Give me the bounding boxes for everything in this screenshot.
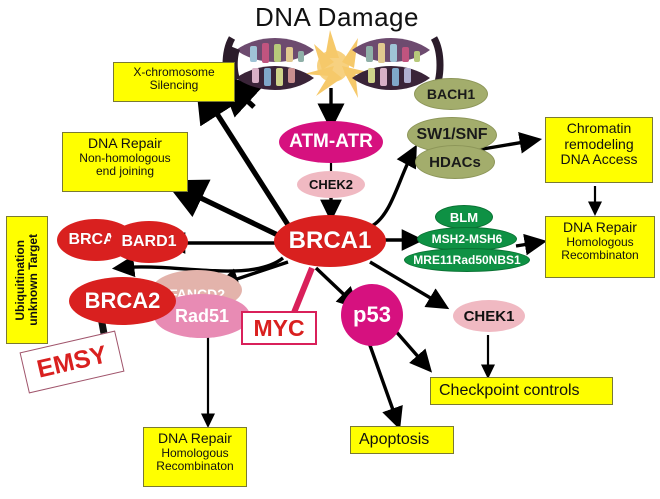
node-brca1-center[interactable]: BRCA1 <box>274 215 386 267</box>
chek2-label: CHEK2 <box>309 177 353 192</box>
chromatin-line3: DNA Access <box>551 152 647 168</box>
msh2-msh6-label: MSH2-MSH6 <box>432 232 503 246</box>
outcome-box-chromatin-remodeling: Chromatin remodeling DNA Access <box>545 117 653 183</box>
chromatin-line1: Chromatin <box>551 121 647 137</box>
node-hdacs[interactable]: HDACs <box>415 145 495 179</box>
node-bard1[interactable]: BARD1 <box>110 221 188 263</box>
edge-mre11-to-hr <box>516 242 541 246</box>
hr-right-line2: Homologous <box>551 236 649 249</box>
nhej-line3: end joining <box>68 165 182 178</box>
brca2-label: BRCA2 <box>85 288 161 314</box>
atm-atr-label: ATM-ATR <box>289 131 373 153</box>
hdacs-label: HDACs <box>429 154 481 171</box>
diagram-title: DNA Damage <box>255 2 419 33</box>
outcome-box-hr-right: DNA Repair Homologous Recombinaton <box>545 216 655 278</box>
blm-label: BLM <box>450 210 478 225</box>
checkpoint-label: Checkpoint controls <box>436 382 580 400</box>
node-myc[interactable]: MYC <box>241 311 317 345</box>
ubiquitination-line2: unknown Target <box>27 234 40 326</box>
apoptosis-label: Apoptosis <box>356 431 429 449</box>
outcome-box-apoptosis: Apoptosis <box>350 426 454 454</box>
node-p53[interactable]: p53 <box>341 284 403 346</box>
hr-bottom-line1: DNA Repair <box>149 431 241 447</box>
chek1-label: CHEK1 <box>464 308 515 325</box>
node-blm[interactable]: BLM <box>435 205 493 229</box>
pathway-diagram: DNA Damage X-chromosome Silencing DNA Re… <box>0 0 660 499</box>
edge-p53-to-apoptosis <box>367 337 398 424</box>
hr-bottom-line3: Recombinaton <box>149 460 241 473</box>
x-chromosome-line2: Silencing <box>119 79 229 92</box>
outcome-box-x-chromosome-silencing: X-chromosome Silencing <box>113 62 235 102</box>
bard1-label: BARD1 <box>121 233 176 251</box>
node-brca2[interactable]: BRCA2 <box>69 277 176 325</box>
edge-p53-to-checkpoint <box>393 328 428 368</box>
nhej-line2: Non-homologous <box>68 152 182 165</box>
outcome-box-hr-bottom: DNA Repair Homologous Recombinaton <box>143 427 247 487</box>
myc-label: MYC <box>253 315 304 342</box>
edge-brca1-to-sw1snf <box>372 150 414 226</box>
chromatin-line2: remodeling <box>551 137 647 153</box>
node-bach1[interactable]: BACH1 <box>414 78 488 110</box>
node-chek2[interactable]: CHEK2 <box>297 171 365 198</box>
hr-right-line1: DNA Repair <box>551 220 649 236</box>
bach1-label: BACH1 <box>427 86 475 102</box>
node-atm-atr[interactable]: ATM-ATR <box>279 121 383 163</box>
x-chromosome-line1: X-chromosome <box>119 66 229 79</box>
mre11-label: MRE11Rad50NBS1 <box>413 253 520 267</box>
hr-right-line3: Recombinaton <box>551 249 649 262</box>
sw1-snf-label: SW1/SNF <box>416 126 487 144</box>
outcome-box-ubiquitination: Ubiquitination unknown Target <box>6 216 48 344</box>
p53-label: p53 <box>353 302 391 328</box>
outcome-box-nhej: DNA Repair Non-homologous end joining <box>62 132 188 192</box>
brca1-center-label: BRCA1 <box>289 227 372 255</box>
dna-double-helix-break-icon <box>218 28 448 100</box>
rad51-label: Rad51 <box>175 306 229 327</box>
outcome-box-checkpoint-controls: Checkpoint controls <box>430 377 613 405</box>
nhej-line1: DNA Repair <box>68 136 182 152</box>
node-mre11-rad50-nbs1[interactable]: MRE11Rad50NBS1 <box>404 248 530 272</box>
hr-bottom-line2: Homologous <box>149 447 241 460</box>
node-chek1[interactable]: CHEK1 <box>453 300 525 332</box>
ubiquitination-line1: Ubiquitination <box>14 240 27 321</box>
